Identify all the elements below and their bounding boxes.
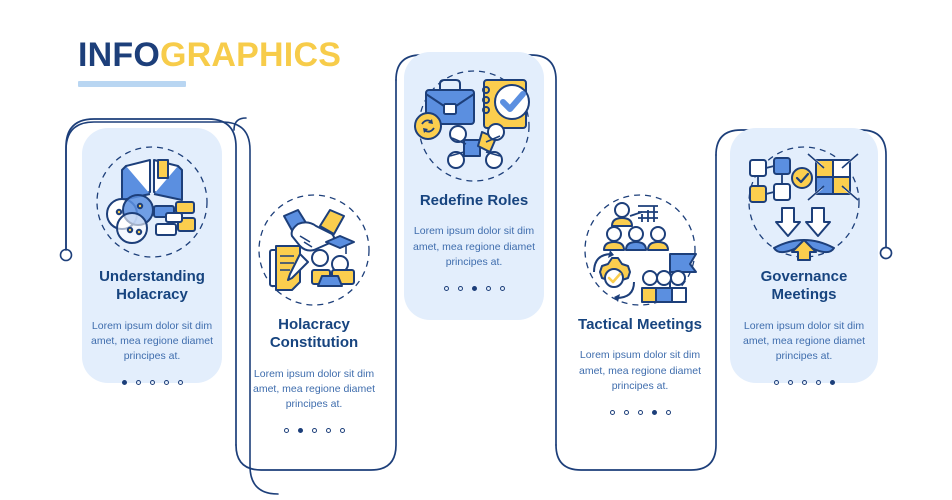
dot-4[interactable] xyxy=(652,410,657,415)
step-card-governance-meetings[interactable]: Governance Meetings Lorem ipsum dolor si… xyxy=(730,128,878,383)
org-chart-puzzle-arrows-icon xyxy=(738,144,870,262)
briefcase-checklist-puzzle-icon xyxy=(408,68,540,186)
dot-1[interactable] xyxy=(774,380,779,385)
step-indicator-dots[interactable] xyxy=(774,380,835,385)
dot-4[interactable] xyxy=(816,380,821,385)
step-indicator-dots[interactable] xyxy=(284,428,345,433)
card-body: Lorem ipsum dolor sit dim amet, mea regi… xyxy=(741,319,867,365)
start-endpoint-circle xyxy=(61,250,72,261)
dot-1[interactable] xyxy=(444,286,449,291)
dot-5[interactable] xyxy=(500,286,505,291)
dot-5[interactable] xyxy=(666,410,671,415)
dot-3[interactable] xyxy=(150,380,155,385)
step-indicator-dots[interactable] xyxy=(444,286,505,291)
dot-1[interactable] xyxy=(284,428,289,433)
dot-4[interactable] xyxy=(326,428,331,433)
step-card-holacracy-constitution[interactable]: Holacracy Constitution Lorem ipsum dolor… xyxy=(240,176,388,444)
open-book-teamwork-icon xyxy=(86,144,218,262)
dot-5[interactable] xyxy=(178,380,183,385)
step-indicator-dots[interactable] xyxy=(610,410,671,415)
infographic-canvas: INFOGRAPHICS xyxy=(0,0,952,500)
card-title: Tactical Meetings xyxy=(578,316,702,334)
card-title: Understanding Holacracy xyxy=(82,268,222,305)
handshake-document-education-icon xyxy=(248,192,380,310)
connector-path-1-2 xyxy=(234,118,246,130)
dot-2[interactable] xyxy=(298,428,303,433)
dot-2[interactable] xyxy=(788,380,793,385)
card-title: Governance Meetings xyxy=(730,268,878,305)
card-body: Lorem ipsum dolor sit dim amet, mea regi… xyxy=(577,348,703,394)
dot-3[interactable] xyxy=(472,286,477,291)
dot-4[interactable] xyxy=(164,380,169,385)
dot-3[interactable] xyxy=(638,410,643,415)
dot-2[interactable] xyxy=(136,380,141,385)
team-presentation-gear-flag-icon xyxy=(574,192,706,310)
card-title: Holacracy Constitution xyxy=(240,316,388,353)
dot-1[interactable] xyxy=(122,380,127,385)
card-body: Lorem ipsum dolor sit dim amet, mea regi… xyxy=(411,224,537,270)
dot-1[interactable] xyxy=(610,410,615,415)
card-body: Lorem ipsum dolor sit dim amet, mea regi… xyxy=(251,367,377,413)
card-title: Redefine Roles xyxy=(420,192,528,210)
end-endpoint-circle xyxy=(881,248,892,259)
dot-4[interactable] xyxy=(486,286,491,291)
dot-3[interactable] xyxy=(802,380,807,385)
dot-5[interactable] xyxy=(830,380,835,385)
dot-3[interactable] xyxy=(312,428,317,433)
step-card-redefine-roles[interactable]: Redefine Roles Lorem ipsum dolor sit dim… xyxy=(404,52,544,320)
step-card-tactical-meetings[interactable]: Tactical Meetings Lorem ipsum dolor sit … xyxy=(566,176,714,444)
step-indicator-dots[interactable] xyxy=(122,380,183,385)
dot-2[interactable] xyxy=(624,410,629,415)
dot-2[interactable] xyxy=(458,286,463,291)
card-body: Lorem ipsum dolor sit dim amet, mea regi… xyxy=(89,319,215,365)
step-card-understanding-holacracy[interactable]: Understanding Holacracy Lorem ipsum dolo… xyxy=(82,128,222,383)
dot-5[interactable] xyxy=(340,428,345,433)
